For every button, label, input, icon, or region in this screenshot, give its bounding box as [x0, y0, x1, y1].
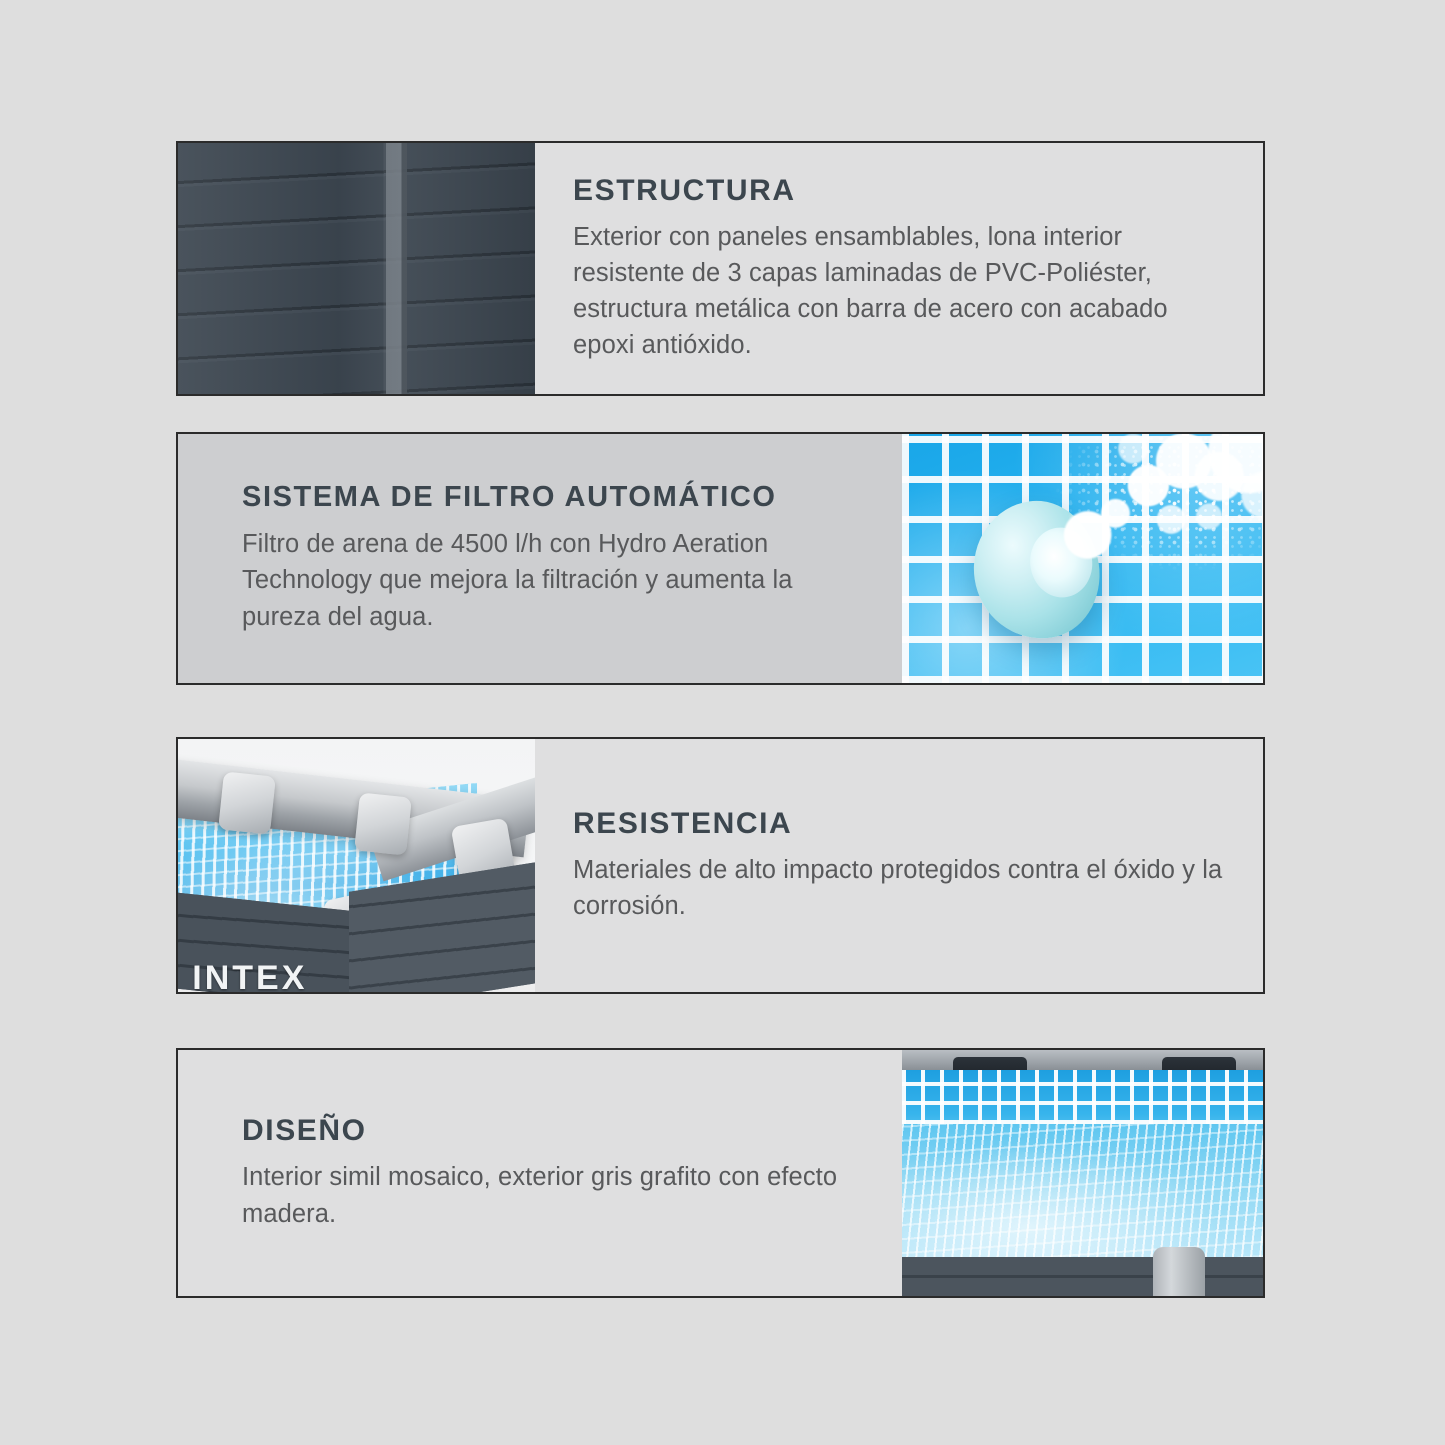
wood-panel-texture	[178, 143, 535, 394]
feature-body: Exterior con paneles ensamblables, lona …	[573, 219, 1225, 364]
feature-copy-estructura: ESTRUCTURA Exterior con paneles ensambla…	[535, 143, 1263, 394]
feature-copy-resistencia: RESISTENCIA Materiales de alto impacto p…	[535, 739, 1263, 992]
feature-copy-sistema-de-filtro-automatico: SISTEMA DE FILTRO AUTOMÁTICO Filtro de a…	[178, 434, 902, 683]
feature-title: SISTEMA DE FILTRO AUTOMÁTICO	[242, 482, 864, 514]
feature-title: RESISTENCIA	[573, 807, 1225, 840]
pool-corner-scene: INTEX	[178, 739, 535, 992]
pool-interior-scene	[902, 1050, 1263, 1296]
hydro-aeration-jet-bubbles-photo	[902, 434, 1263, 683]
feature-card-estructura: ESTRUCTURA Exterior con paneles ensambla…	[176, 141, 1265, 396]
brand-logo: INTEX	[192, 959, 307, 992]
feature-title: DISEÑO	[242, 1114, 864, 1147]
graphite-wall-panel	[902, 1257, 1263, 1296]
feature-copy-diseno: DISEÑO Interior simil mosaico, exterior …	[178, 1050, 902, 1296]
feature-body: Interior simil mosaico, exterior gris gr…	[242, 1159, 864, 1231]
water-ripples	[902, 1124, 1263, 1272]
fine-bubble-spray	[1025, 434, 1263, 593]
corner-post	[1153, 1247, 1205, 1296]
pool-interior-mosaic-water-photo	[902, 1050, 1263, 1296]
feature-card-sistema-de-filtro-automatico: SISTEMA DE FILTRO AUTOMÁTICO Filtro de a…	[176, 432, 1265, 685]
feature-body: Materiales de alto impacto protegidos co…	[573, 852, 1225, 924]
dark-composite-wood-panels-photo	[178, 143, 535, 394]
pool-corner-frame-photo: INTEX	[178, 739, 535, 992]
feature-card-diseno: DISEÑO Interior simil mosaico, exterior …	[176, 1048, 1265, 1298]
feature-title: ESTRUCTURA	[573, 174, 1225, 207]
feature-body: Filtro de arena de 4500 l/h con Hydro Ae…	[242, 526, 864, 635]
rail-connector	[354, 792, 412, 855]
feature-card-resistencia: INTEX RESISTENCIA Materiales de alto imp…	[176, 737, 1265, 994]
rail-connector	[218, 772, 276, 835]
feature-infographic: ESTRUCTURA Exterior con paneles ensambla…	[0, 0, 1445, 1445]
